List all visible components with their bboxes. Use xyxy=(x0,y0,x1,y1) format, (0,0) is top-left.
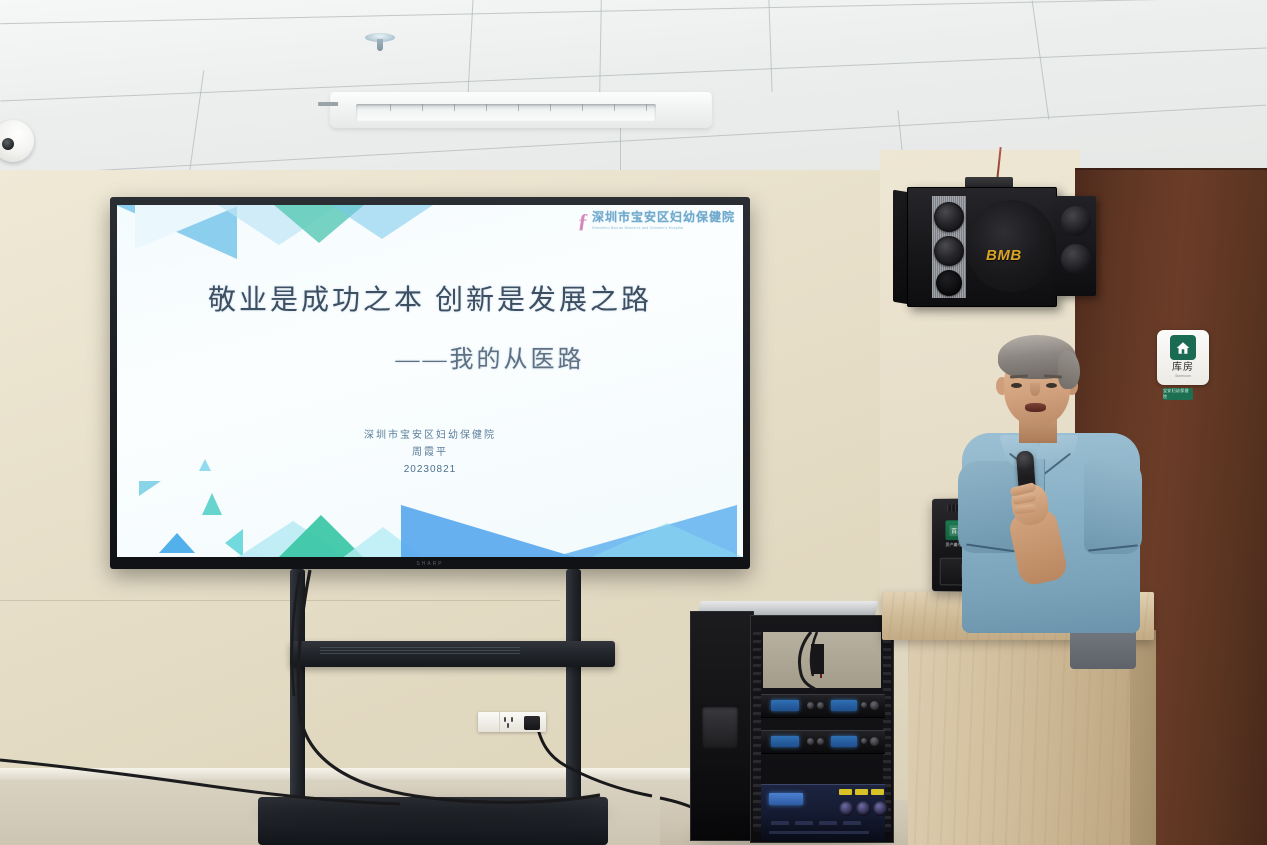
presenter-mouth xyxy=(1025,403,1046,412)
mixer-lcd-display xyxy=(769,793,803,805)
air-conditioning-vent xyxy=(330,92,713,128)
presenter-sleeve-left xyxy=(958,461,1018,553)
microphone-head-icon xyxy=(1016,451,1034,474)
slide-triangle-decor xyxy=(587,523,743,557)
wall-speaker-secondary xyxy=(1056,196,1096,296)
rack-unit-receiver-1[interactable] xyxy=(761,694,885,718)
speaker-driver-top-icon xyxy=(934,202,964,232)
presenter xyxy=(962,333,1152,633)
slide-triangle-decor xyxy=(213,551,293,557)
ceiling xyxy=(0,0,1267,175)
slide-triangle-decor xyxy=(202,493,222,515)
mixer-jack-1[interactable] xyxy=(839,801,854,816)
power-plug[interactable] xyxy=(524,716,540,730)
fire-sprinkler-icon xyxy=(365,33,395,47)
hospital-logo-name-en: Shenzhen Bao'an Women's and Children's H… xyxy=(592,226,735,230)
mixer-jack-3[interactable] xyxy=(873,801,888,816)
speaker-driver-bottom-icon xyxy=(936,270,962,296)
speaker-woofer-icon xyxy=(966,200,1056,292)
speaker-cabinet: BMB xyxy=(907,187,1057,307)
door-sign-tag: 宝安妇幼保健院 xyxy=(1163,388,1193,400)
rack-front-bay xyxy=(750,615,894,843)
presenter-hair-side xyxy=(1058,351,1080,389)
rack-unit-receiver-2[interactable] xyxy=(761,730,885,754)
hospital-logo-mark-icon: ƒ xyxy=(577,211,588,231)
house-icon xyxy=(1170,335,1196,360)
audio-equipment-rack xyxy=(690,601,895,845)
presenter-eye-left xyxy=(1011,383,1022,388)
slide-triangle-decor xyxy=(199,459,211,471)
door-sign-storeroom: 库房 Storeroom xyxy=(1157,330,1209,385)
hospital-logo-name-cn: 深圳市宝安区妇幼保健院 xyxy=(592,211,735,224)
slide-org: 深圳市宝安区妇幼保健院 xyxy=(117,427,743,444)
outlet-switch[interactable] xyxy=(478,712,500,732)
speaker-driver-mid-icon xyxy=(934,236,964,266)
door-sign-label-cn: 库房 xyxy=(1172,363,1194,373)
rack-latch[interactable] xyxy=(702,707,738,749)
rack-side-panel xyxy=(690,611,754,841)
slide-hospital-logo: ƒ 深圳市宝安区妇幼保健院 Shenzhen Bao'an Women's an… xyxy=(578,211,735,231)
slide-triangle-decor xyxy=(159,533,195,553)
presenter-sleeve-right xyxy=(1084,459,1142,554)
mixer-jack-2[interactable] xyxy=(856,801,871,816)
door-sign-label-en: Storeroom xyxy=(1175,375,1191,378)
slide-triangle-decor xyxy=(322,205,442,239)
slide-subtitle: ——我的从医路 xyxy=(117,345,743,375)
slide-triangle-decor xyxy=(139,481,161,496)
rack-cabling xyxy=(781,632,841,690)
bmb-brand-label: BMB xyxy=(986,248,1022,263)
presentation-slide: ƒ 深圳市宝安区妇幼保健院 Shenzhen Bao'an Women's an… xyxy=(117,205,743,557)
presenter-eye-right xyxy=(1046,383,1057,388)
presentation-display[interactable]: ƒ 深圳市宝安区妇幼保健院 Shenzhen Bao'an Women's an… xyxy=(110,197,750,569)
rack-rail-left xyxy=(753,632,761,832)
presentation-room-photo: 库房 Storeroom 宝安妇幼保健院 BMB xyxy=(0,0,1267,845)
slide-title: 敬业是成功之本 创新是发展之路 xyxy=(117,283,743,318)
outlet-socket-a[interactable] xyxy=(500,712,523,732)
camera-lens-icon xyxy=(2,138,14,150)
presenter-nose xyxy=(1030,383,1040,396)
